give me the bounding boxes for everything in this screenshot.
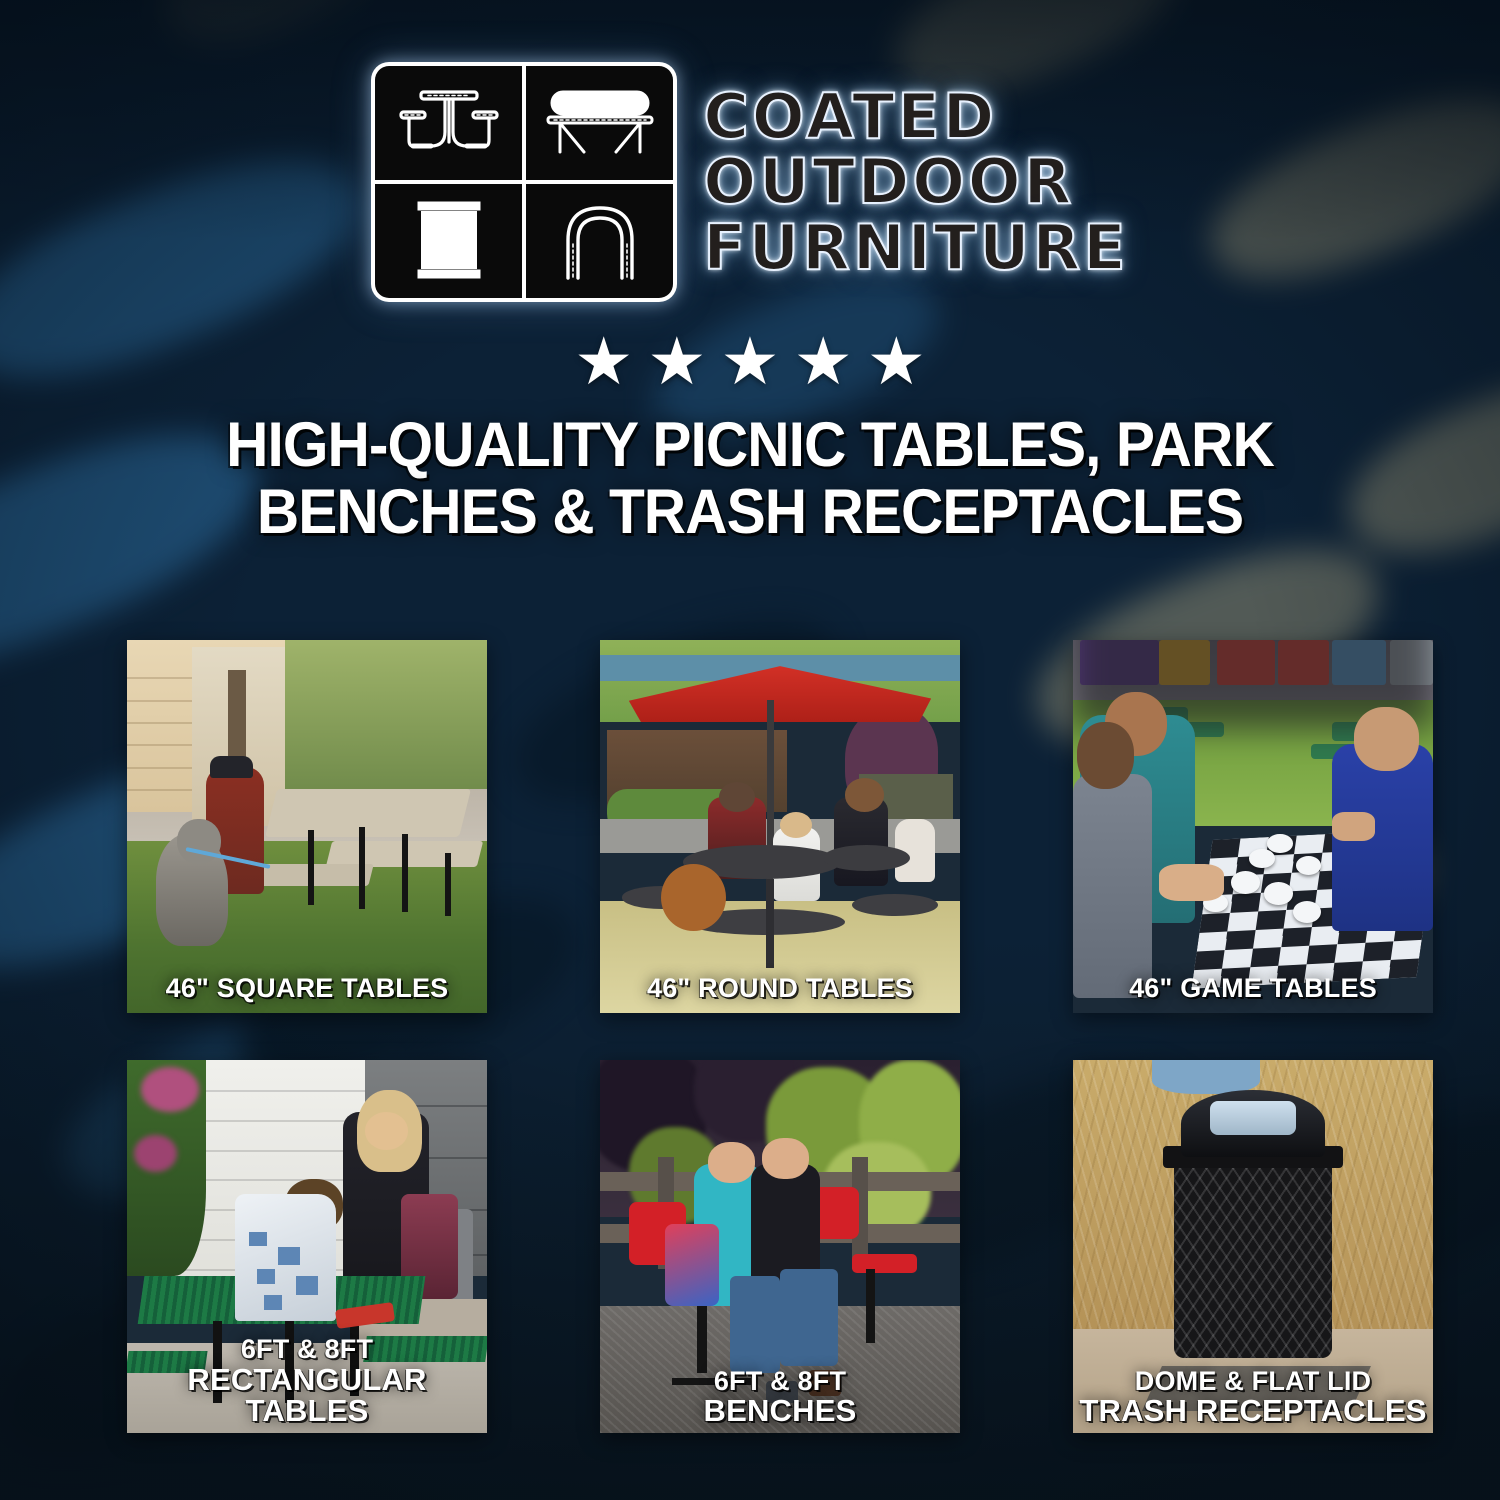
picnic-table-icon xyxy=(375,66,522,180)
product-photo xyxy=(600,640,960,1013)
star-icon: ★ xyxy=(720,328,779,394)
product-tile-round-tables[interactable]: 46" ROUND TABLES xyxy=(600,640,960,1013)
promo-graphic: COATED OUTDOOR FURNITURE ★ ★ ★ ★ ★ HIGH-… xyxy=(0,0,1500,1500)
product-tile-trash-receptacles[interactable]: DOME & FLAT LID TRASH RECEPTACLES xyxy=(1073,1060,1433,1433)
star-icon: ★ xyxy=(867,328,926,394)
caption-line1: 6FT & 8FT xyxy=(714,1366,846,1396)
star-icon: ★ xyxy=(647,328,706,394)
caption-line1: 46" SQUARE TABLES xyxy=(166,973,449,1003)
product-caption: 46" SQUARE TABLES xyxy=(127,975,487,1003)
brand-name-line1: COATED xyxy=(703,85,1128,148)
caption-line1: 6FT & 8FT xyxy=(241,1334,373,1364)
product-tile-square-tables[interactable]: 46" SQUARE TABLES xyxy=(127,640,487,1013)
product-caption: DOME & FLAT LID TRASH RECEPTACLES xyxy=(1073,1368,1433,1427)
bench-icon xyxy=(526,66,673,180)
product-tile-rectangular-tables[interactable]: 6FT & 8FT RECTANGULAR TABLES xyxy=(127,1060,487,1433)
brand-logo xyxy=(371,62,677,302)
caption-line1: DOME & FLAT LID xyxy=(1135,1366,1371,1396)
product-photo xyxy=(127,640,487,1013)
product-caption: 6FT & 8FT RECTANGULAR TABLES xyxy=(127,1336,487,1427)
page-title: HIGH-QUALITY PICNIC TABLES, PARK BENCHES… xyxy=(53,412,1448,546)
product-tile-benches[interactable]: 6FT & 8FT BENCHES xyxy=(600,1060,960,1433)
headline-line1: HIGH-QUALITY PICNIC TABLES, PARK xyxy=(226,410,1274,480)
headline-line2: BENCHES & TRASH RECEPTACLES xyxy=(118,479,1383,546)
brand-wordmark: COATED OUTDOOR FURNITURE xyxy=(703,85,1128,279)
brand-row: COATED OUTDOOR FURNITURE xyxy=(0,0,1500,302)
star-icon: ★ xyxy=(574,328,633,394)
caption-line2: RECTANGULAR TABLES xyxy=(127,1364,487,1427)
product-photo xyxy=(1073,640,1433,1013)
product-caption: 46" GAME TABLES xyxy=(1073,975,1433,1003)
star-icon: ★ xyxy=(794,328,853,394)
product-grid: 46" SQUARE TABLES xyxy=(127,640,1390,1433)
caption-line2: BENCHES xyxy=(600,1395,960,1427)
trash-receptacle-icon xyxy=(375,184,522,298)
bike-rack-arch-icon xyxy=(526,184,673,298)
brand-name-line2: OUTDOOR xyxy=(703,150,1128,213)
header: COATED OUTDOOR FURNITURE ★ ★ ★ ★ ★ HIGH-… xyxy=(0,0,1500,546)
star-rating: ★ ★ ★ ★ ★ xyxy=(0,328,1500,394)
product-caption: 46" ROUND TABLES xyxy=(600,975,960,1003)
caption-line2: TRASH RECEPTACLES xyxy=(1073,1395,1433,1427)
brand-name-line3: FURNITURE xyxy=(703,216,1128,279)
product-tile-game-tables[interactable]: 46" GAME TABLES xyxy=(1073,640,1433,1013)
caption-line1: 46" ROUND TABLES xyxy=(647,973,913,1003)
product-caption: 6FT & 8FT BENCHES xyxy=(600,1368,960,1427)
caption-line1: 46" GAME TABLES xyxy=(1129,973,1377,1003)
